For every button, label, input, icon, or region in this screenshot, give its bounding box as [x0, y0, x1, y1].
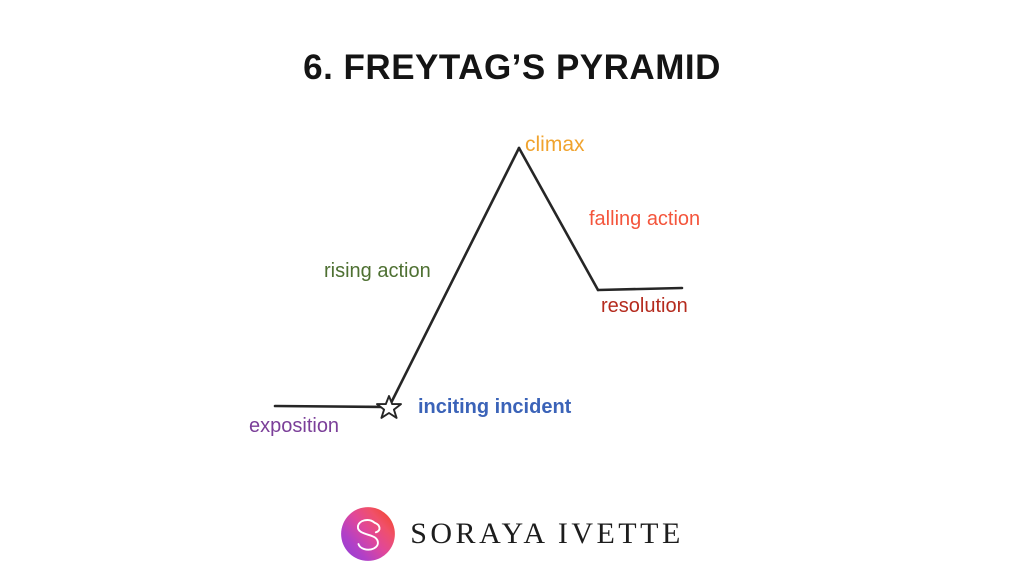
label-inciting-incident: inciting incident — [418, 397, 571, 417]
inciting-incident-star-icon — [377, 396, 401, 418]
resolution-line — [598, 288, 682, 290]
brand-logo: SORAYA IVETTE — [0, 506, 1024, 562]
soraya-ivette-monogram-icon — [340, 506, 396, 562]
label-climax: climax — [525, 134, 585, 155]
freytag-plot-svg — [0, 0, 1024, 500]
brand-wordmark: SORAYA IVETTE — [410, 517, 684, 551]
freytag-pyramid-diagram: climax falling action rising action reso… — [0, 0, 1024, 500]
label-falling-action: falling action — [589, 209, 700, 229]
exposition-line — [275, 406, 389, 407]
label-exposition: exposition — [249, 416, 339, 436]
label-rising-action: rising action — [324, 261, 431, 281]
label-resolution: resolution — [601, 296, 688, 316]
falling-action-line — [519, 148, 598, 290]
